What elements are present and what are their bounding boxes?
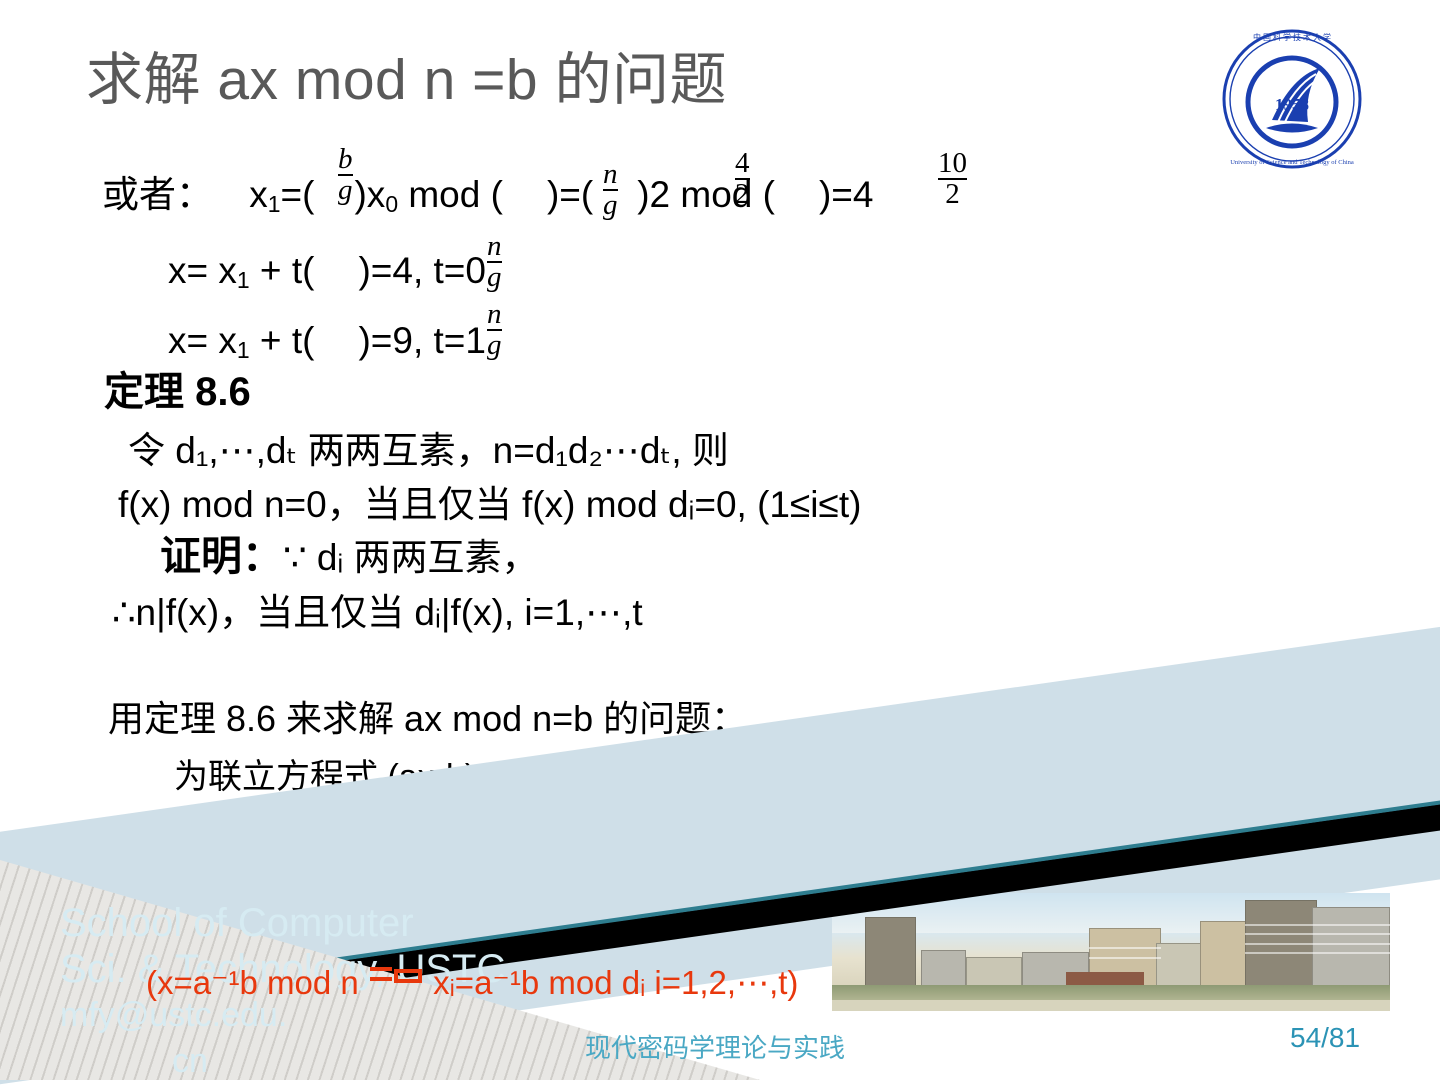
math-line-2-head: x= x — [168, 250, 237, 291]
proof-reason: ∵ dᵢ 两两互素， — [283, 537, 539, 578]
fraction-10-over-2: 10 2 — [938, 149, 967, 209]
math-line-2-sub: 1 — [237, 267, 250, 293]
math-line-3-mid: + t( — [250, 320, 315, 361]
math-line-1-mid: )=( — [547, 174, 593, 215]
logo-text-cn: 中 国 科 学 技 术 大 学 — [1253, 32, 1331, 42]
red-formula-left: (x=a⁻¹b mod n — [146, 964, 359, 1001]
math-line-1-x1: x1=( — [249, 174, 314, 215]
math-line-2: x= x1 + t()=4, t=0 — [168, 252, 486, 292]
iff-double-arrow-icon — [368, 967, 424, 998]
proof-label: 证明： — [160, 533, 283, 579]
math-line-1-prefix: 或者： — [102, 174, 213, 215]
theorem-heading: 定理 8.6 — [104, 372, 251, 412]
page-number: 54/81 — [1290, 1022, 1360, 1054]
ustc-campus-photo — [832, 893, 1390, 1011]
red-formula-right: xᵢ=a⁻¹b mod dᵢ i=1,2,⋯,t) — [433, 964, 798, 1001]
math-line-2-mid: + t( — [250, 250, 315, 291]
fraction-n-over-g-3: n g — [487, 300, 502, 360]
math-line-1: 或者： x1=()x0 mod ()=()2 mod ()=4 — [102, 176, 873, 216]
theorem-proof-line-2: ∴n|f(x)，当且仅当 dᵢ|f(x), i=1,⋯,t — [112, 594, 643, 631]
math-line-1-x0: )x0 mod ( — [354, 174, 502, 215]
fraction-n-over-g-2: n g — [487, 232, 502, 292]
math-line-3: x= x1 + t()=9, t=1 — [168, 322, 486, 362]
math-line-1-two: )2 mod ( — [637, 174, 775, 215]
fraction-4-over-2: 4 2 — [735, 149, 750, 209]
application-heading: 用定理 8.6 来求解 ax mod n=b 的问题： — [108, 690, 747, 742]
math-line-3-tail: )=9, t=1 — [358, 320, 486, 361]
math-line-3-head: x= x — [168, 320, 237, 361]
theorem-line-1: 令 d₁,⋯,dₜ 两两互素，n=d₁d₂⋯dₜ, 则 — [128, 432, 729, 469]
logo-text-en: University of Science and Technology of … — [1230, 159, 1354, 166]
math-line-1-end: )=4 — [819, 174, 874, 215]
red-formula: (x=a⁻¹b mod n xᵢ=a⁻¹b mod dᵢ i=1,2,⋯,t) — [146, 963, 798, 1002]
ustc-logo: 1958 中 国 科 学 技 术 大 学 University of Scien… — [1208, 24, 1376, 174]
theorem-proof-line-1: 证明：∵ dᵢ 两两互素， — [160, 536, 539, 577]
slide-canvas: 求解 ax mod n =b 的问题 1958 中 国 科 学 技 术 大 学 … — [0, 0, 1440, 1080]
theorem-line-2: f(x) mod n=0，当且仅当 f(x) mod dᵢ=0, (1≤i≤t) — [118, 486, 861, 523]
page-title: 求解 ax mod n =b 的问题 — [86, 52, 727, 109]
fraction-n-over-g-1: n g — [603, 160, 618, 220]
footer-title: 现代密码学理论与实践 — [585, 1028, 845, 1065]
fraction-b-over-g: b g — [338, 145, 353, 205]
logo-year: 1958 — [1275, 95, 1309, 114]
math-line-3-sub: 1 — [237, 337, 250, 363]
math-line-2-tail: )=4, t=0 — [358, 250, 486, 291]
